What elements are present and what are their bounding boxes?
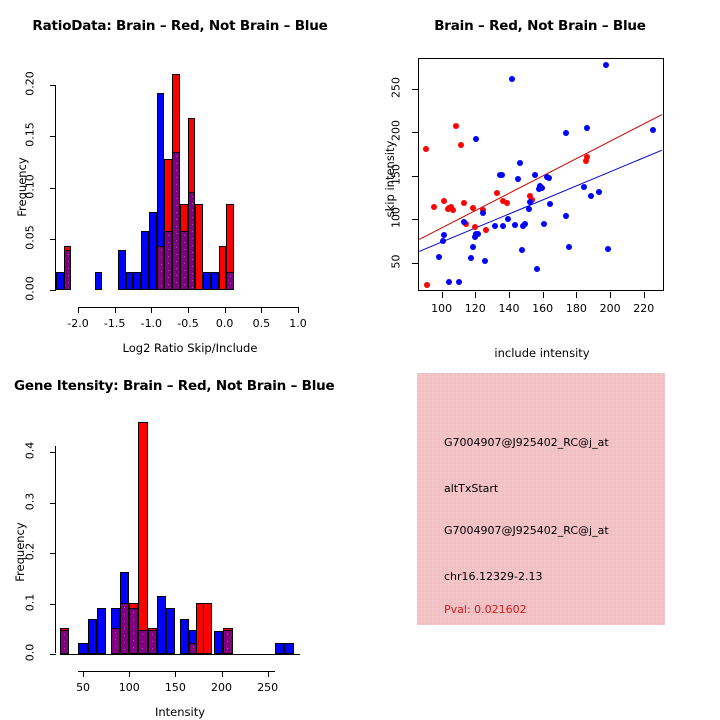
x-tick <box>175 671 176 677</box>
scatter-point <box>480 210 486 216</box>
y-tick <box>50 290 56 291</box>
histogram-bar <box>138 422 147 654</box>
histogram-bar <box>203 272 211 290</box>
scatter-point <box>650 127 656 133</box>
figure-canvas: RatioData: Brain – Red, Not Brain – Blue… <box>0 0 720 720</box>
y-tick-label: 100 <box>390 200 403 236</box>
y-tick <box>50 85 56 86</box>
scatter-point <box>584 154 590 160</box>
gene-histogram-xlabel: Intensity <box>60 705 300 719</box>
scatter-xlabel: include intensity <box>420 346 664 360</box>
x-tick <box>151 307 152 313</box>
y-tick <box>50 188 56 189</box>
x-tick <box>268 671 269 677</box>
scatter-point <box>441 232 447 238</box>
scatter-point <box>534 266 540 272</box>
scatter-point <box>605 246 611 252</box>
x-tick-label: -1.0 <box>131 317 171 330</box>
scatter-point <box>440 238 446 244</box>
histogram-bar-overlap <box>164 231 172 290</box>
histogram-bar-overlap <box>157 246 165 290</box>
x-tick-label: -1.5 <box>95 317 135 330</box>
scatter-point <box>515 176 521 182</box>
scatter-point <box>436 254 442 260</box>
y-tick <box>50 654 56 655</box>
x-tick <box>222 671 223 677</box>
scatter-point <box>470 244 476 250</box>
histogram-bar <box>97 608 106 654</box>
scatter-point <box>546 175 552 181</box>
scatter-point <box>584 125 590 131</box>
histogram-bar <box>118 250 126 290</box>
x-tick-label: -0.5 <box>168 317 208 330</box>
x-tick <box>576 292 577 298</box>
scatter-point <box>494 190 500 196</box>
histogram-bar-overlap <box>120 603 129 654</box>
histogram-bar <box>180 619 189 654</box>
histogram-bar <box>126 272 134 290</box>
x-tick-label: -2.0 <box>58 317 98 330</box>
scatter-point <box>563 213 569 219</box>
scatter-point <box>588 193 594 199</box>
x-axis-rule <box>78 671 275 672</box>
histogram-bar-overlap <box>223 630 232 654</box>
y-tick-label: 0.05 <box>24 215 37 259</box>
histogram-bar-overlap <box>60 630 69 654</box>
y-tick <box>50 503 56 504</box>
panel-intensity-scatter: Brain – Red, Not Brain – Blue skip inten… <box>360 0 720 360</box>
y-tick-label: 0.4 <box>24 431 37 471</box>
y-tick <box>412 219 418 220</box>
scatter-point <box>423 146 429 152</box>
scatter-point <box>539 185 545 191</box>
scatter-point <box>500 223 506 229</box>
histogram-bar-overlap <box>111 628 120 654</box>
histogram-bar <box>95 272 103 290</box>
x-tick <box>509 292 510 298</box>
gene-histogram-bars <box>60 414 300 654</box>
y-tick-label: 0.0 <box>24 633 37 673</box>
y-tick <box>50 239 56 240</box>
x-tick-label: 0.5 <box>241 317 281 330</box>
y-tick-label: 0.3 <box>24 481 37 521</box>
ratio-histogram-xlabel: Log2 Ratio Skip/Include <box>80 341 300 355</box>
scatter-point <box>566 244 572 250</box>
histogram-bar <box>284 643 293 654</box>
x-tick <box>115 307 116 313</box>
scatter-point <box>424 282 430 288</box>
y-tick-label: 0.00 <box>24 267 37 311</box>
panel-annotation-info: G7004907@J925402_RC@j_at altTxStart G700… <box>360 360 720 720</box>
scatter-point <box>596 189 602 195</box>
histogram-bar <box>203 603 212 654</box>
scatter-point <box>456 279 462 285</box>
locus-line: chr16.12329-2.13 <box>444 570 543 583</box>
x-tick-label: 100 <box>109 681 149 694</box>
histogram-bar <box>166 608 175 654</box>
annotation-infobox: G7004907@J925402_RC@j_at altTxStart G700… <box>417 373 665 625</box>
y-tick-label: 0.2 <box>24 532 37 572</box>
histogram-bar <box>133 272 141 290</box>
scatter-point <box>504 200 510 206</box>
y-tick <box>50 452 56 453</box>
y-tick-label: 0.1 <box>24 582 37 622</box>
histogram-bar <box>78 643 87 654</box>
scatter-point <box>563 130 569 136</box>
histogram-bar-overlap <box>188 192 196 290</box>
gene-histogram-x-axis <box>60 654 300 655</box>
scatter-point <box>446 279 452 285</box>
ratio-histogram-title: RatioData: Brain – Red, Not Brain – Blue <box>0 18 360 34</box>
y-tick-label: 250 <box>390 69 403 105</box>
scatter-point <box>505 216 511 222</box>
scatter-point <box>468 255 474 261</box>
panel-ratio-histogram: RatioData: Brain – Red, Not Brain – Blue… <box>0 0 360 360</box>
x-tick <box>78 307 79 313</box>
y-tick <box>50 604 56 605</box>
y-tick <box>412 263 418 264</box>
scatter-title: Brain – Red, Not Brain – Blue <box>360 18 720 34</box>
scatter-point <box>450 207 456 213</box>
scatter-point <box>453 123 459 129</box>
y-tick-label: 0.15 <box>24 113 37 157</box>
histogram-bar <box>149 212 157 290</box>
histogram-bar <box>195 204 203 290</box>
x-tick-label: 220 <box>624 302 664 315</box>
scatter-point <box>519 247 525 253</box>
histogram-bar <box>157 596 166 654</box>
gene-histogram-y-axis <box>55 446 56 653</box>
x-tick <box>475 292 476 298</box>
histogram-bar <box>214 631 223 654</box>
x-tick <box>129 671 130 677</box>
y-tick <box>412 176 418 177</box>
x-tick <box>83 671 84 677</box>
x-tick-label: 50 <box>63 681 103 694</box>
gene-histogram-title: Gene Itensity: Brain – Red, Not Brain – … <box>0 378 374 394</box>
histogram-bar-overlap <box>129 608 138 654</box>
x-tick <box>610 292 611 298</box>
y-tick <box>412 132 418 133</box>
scatter-point <box>547 201 553 207</box>
scatter-point <box>517 160 523 166</box>
scatter-point <box>441 198 447 204</box>
histogram-bar <box>219 246 227 290</box>
x-tick <box>543 292 544 298</box>
scatter-point <box>461 200 467 206</box>
scatter-point <box>581 184 587 190</box>
histogram-bar-overlap <box>180 231 188 290</box>
probeset-id-2-line: G7004907@J925402_RC@j_at <box>444 524 609 537</box>
x-tick-label: 200 <box>202 681 242 694</box>
scatter-point <box>522 221 528 227</box>
probeset-id-line: G7004907@J925402_RC@j_at <box>444 436 609 449</box>
y-tick-label: 150 <box>390 156 403 192</box>
histogram-bar <box>275 643 284 654</box>
y-tick <box>412 89 418 90</box>
y-tick-label: 0.10 <box>24 164 37 208</box>
x-tick <box>261 307 262 313</box>
x-tick <box>298 307 299 313</box>
x-tick <box>644 292 645 298</box>
histogram-bar <box>211 272 219 290</box>
scatter-point <box>492 223 498 229</box>
panel-gene-histogram: Gene Itensity: Brain – Red, Not Brain – … <box>0 360 360 720</box>
scatter-point <box>473 136 479 142</box>
histogram-bar <box>56 272 64 290</box>
y-tick-label: 200 <box>390 113 403 149</box>
scatter-point <box>603 62 609 68</box>
x-tick-label: 0.0 <box>205 317 245 330</box>
x-tick-label: 1.0 <box>278 317 318 330</box>
scatter-point <box>431 204 437 210</box>
x-tick-label: 150 <box>155 681 195 694</box>
x-tick <box>188 307 189 313</box>
y-tick <box>50 136 56 137</box>
scatter-point <box>472 224 478 230</box>
scatter-plot-area <box>418 58 664 291</box>
event-type-line: altTxStart <box>444 482 498 495</box>
x-tick-label: 250 <box>248 681 288 694</box>
x-tick <box>442 292 443 298</box>
histogram-bar <box>141 231 149 290</box>
y-tick-label: 0.20 <box>24 62 37 106</box>
histogram-bar-overlap <box>172 152 180 290</box>
scatter-point <box>541 221 547 227</box>
scatter-point <box>482 258 488 264</box>
scatter-point <box>512 222 518 228</box>
pval-line: Pval: 0.021602 <box>444 603 527 616</box>
scatter-point <box>483 227 489 233</box>
histogram-bar-overlap <box>226 272 234 290</box>
scatter-point <box>499 172 505 178</box>
scatter-point <box>509 76 515 82</box>
histogram-bar-overlap <box>64 250 72 290</box>
x-tick <box>225 307 226 313</box>
histogram-bar <box>88 619 97 654</box>
histogram-bar-overlap <box>138 630 147 654</box>
ratio-histogram-bars <box>56 70 300 290</box>
scatter-point <box>526 206 532 212</box>
histogram-bar-overlap <box>148 630 157 654</box>
y-tick-label: 50 <box>390 244 403 280</box>
regression-line <box>419 114 662 240</box>
scatter-point <box>475 231 481 237</box>
scatter-point <box>458 142 464 148</box>
y-tick <box>50 553 56 554</box>
regression-line <box>419 150 662 252</box>
